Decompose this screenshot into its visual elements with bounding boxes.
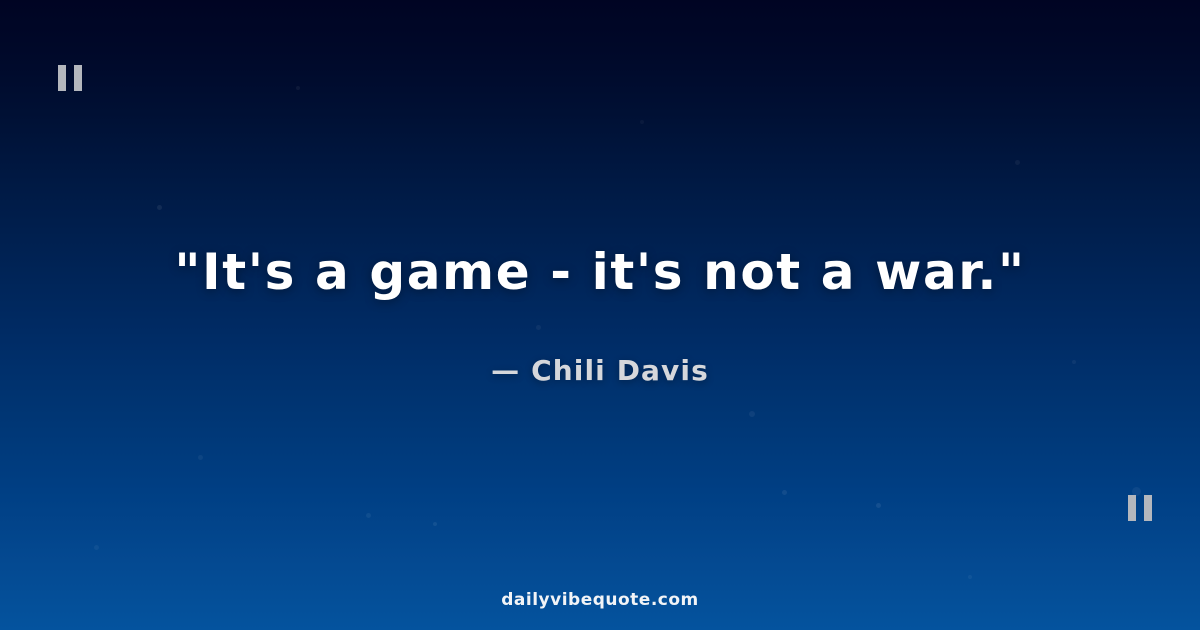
quote-author: — Chili Davis bbox=[491, 354, 709, 387]
site-watermark: dailyvibequote.com bbox=[0, 590, 1200, 610]
quote-card: "It's a game - it's not a war." — Chili … bbox=[0, 0, 1200, 630]
quote-text: "It's a game - it's not a war." bbox=[90, 243, 1110, 302]
quote-content: "It's a game - it's not a war." — Chili … bbox=[0, 0, 1200, 630]
